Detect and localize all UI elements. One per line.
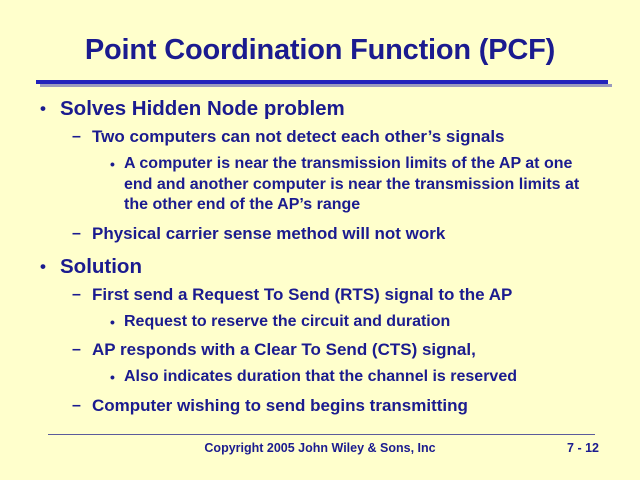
bullet-marker-level3: •: [110, 367, 124, 388]
footer-divider: [48, 434, 595, 435]
bullet-item: – First send a Request To Send (RTS) sig…: [0, 282, 640, 307]
slide: Point Coordination Function (PCF) • Solv…: [0, 0, 640, 480]
page-title: Point Coordination Function (PCF): [0, 36, 640, 65]
bullet-item: • Request to reserve the circuit and dur…: [0, 312, 640, 333]
bullet-text: Request to reserve the circuit and durat…: [124, 312, 592, 333]
bullet-marker-level3: •: [110, 312, 124, 333]
bullet-marker-level1: •: [40, 96, 60, 122]
bullet-marker-level2: –: [72, 337, 92, 362]
bullet-text: Two computers can not detect each other’…: [92, 124, 640, 149]
bullet-item: • Solves Hidden Node problem: [0, 96, 640, 122]
bullet-marker-level2: –: [72, 393, 92, 418]
bullet-item: – AP responds with a Clear To Send (CTS)…: [0, 337, 640, 362]
slide-title-block: Point Coordination Function (PCF): [0, 36, 640, 65]
bullet-item: • A computer is near the transmission li…: [0, 154, 640, 216]
bullet-text: Computer wishing to send begins transmit…: [92, 393, 640, 418]
slide-body: • Solves Hidden Node problem – Two compu…: [0, 96, 640, 419]
bullet-item: – Physical carrier sense method will not…: [0, 221, 640, 246]
bullet-text: Also indicates duration that the channel…: [124, 367, 592, 388]
bullet-item: – Two computers can not detect each othe…: [0, 124, 640, 149]
page-number: 7 - 12: [567, 441, 599, 455]
bullet-item: • Also indicates duration that the chann…: [0, 367, 640, 388]
title-underline-shadow: [40, 84, 612, 87]
slide-footer: Copyright 2005 John Wiley & Sons, Inc 7 …: [0, 441, 640, 461]
bullet-text: Solves Hidden Node problem: [60, 96, 640, 122]
bullet-item: – Computer wishing to send begins transm…: [0, 393, 640, 418]
bullet-text: First send a Request To Send (RTS) signa…: [92, 282, 640, 307]
bullet-marker-level2: –: [72, 282, 92, 307]
bullet-marker-level3: •: [110, 154, 124, 175]
bullet-item: • Solution: [0, 254, 640, 280]
copyright-text: Copyright 2005 John Wiley & Sons, Inc: [0, 441, 640, 455]
bullet-marker-level2: –: [72, 221, 92, 246]
bullet-marker-level2: –: [72, 124, 92, 149]
bullet-text: AP responds with a Clear To Send (CTS) s…: [92, 337, 640, 362]
bullet-text: A computer is near the transmission limi…: [124, 154, 592, 216]
bullet-text: Solution: [60, 254, 640, 280]
spacer: [0, 247, 640, 254]
bullet-text: Physical carrier sense method will not w…: [92, 221, 640, 246]
bullet-marker-level1: •: [40, 254, 60, 280]
